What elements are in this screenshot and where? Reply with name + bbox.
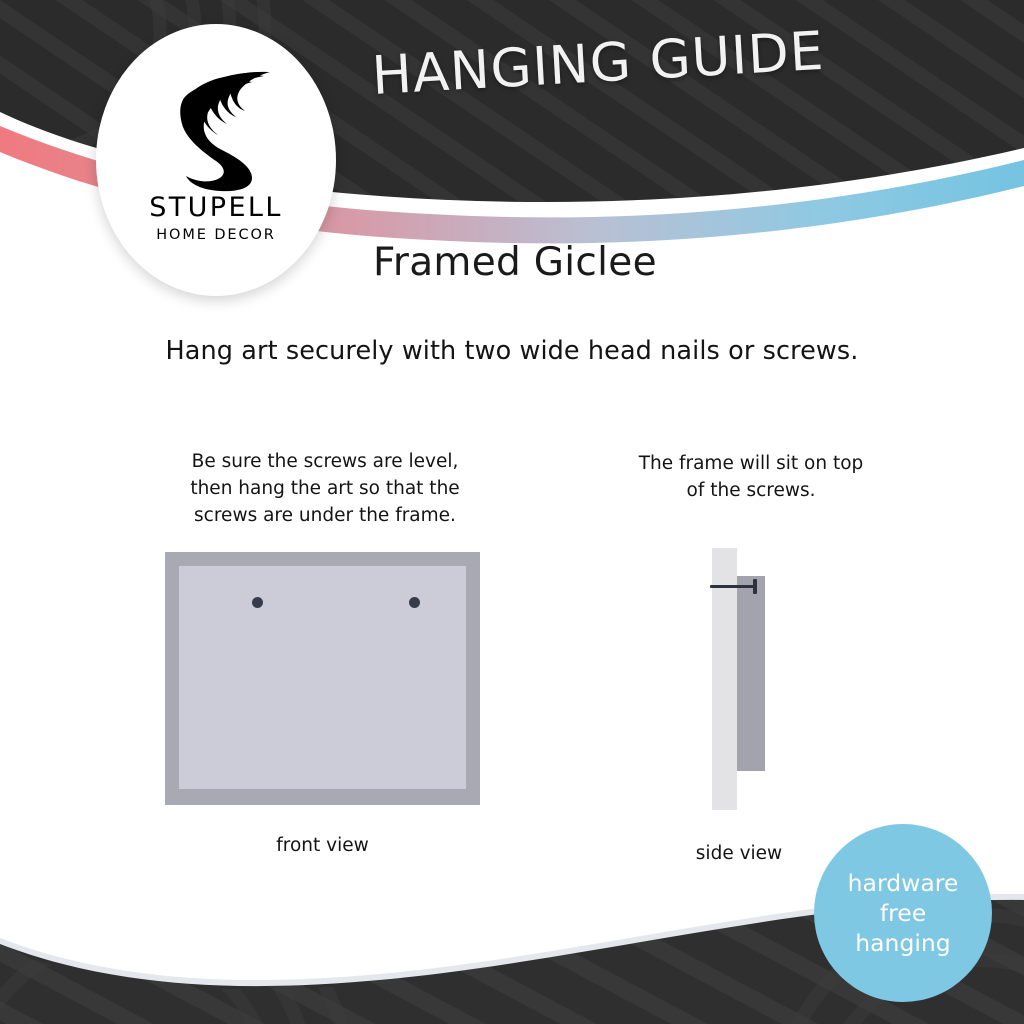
caption-line: then hang the art so that the: [150, 475, 500, 502]
side-view-diagram: [705, 546, 775, 810]
hanging-guide-page: HANGING GUIDE STUPELL HOME DECOR Framed …: [0, 0, 1024, 1024]
stupell-swoosh-icon: [156, 64, 276, 192]
hardware-free-hanging-badge: hardware free hanging: [814, 824, 992, 1002]
nail-shaft-icon: [710, 585, 756, 588]
caption-line: Be sure the screws are level,: [150, 448, 500, 475]
side-view-caption: The frame will sit on top of the screws.: [598, 450, 904, 504]
caption-line: The frame will sit on top: [598, 450, 904, 477]
badge-line: hanging: [855, 928, 950, 958]
screw-dot-icon: [252, 597, 263, 608]
frame-mat-panel: [179, 566, 466, 789]
badge-line: hardware: [848, 868, 959, 898]
brand-tagline: HOME DECOR: [156, 228, 276, 243]
page-title: HANGING GUIDE: [370, 17, 893, 107]
front-view-label: front view: [190, 835, 455, 856]
caption-line: of the screws.: [598, 477, 904, 504]
frame-profile: [737, 576, 765, 771]
brand-name: STUPELL: [149, 194, 283, 221]
badge-line: free: [880, 898, 926, 928]
side-view-label: side view: [647, 843, 831, 864]
front-view-caption: Be sure the screws are level, then hang …: [150, 448, 500, 529]
product-type-heading: Framed Giclee: [373, 240, 657, 285]
screw-dot-icon: [409, 597, 420, 608]
caption-line: screws are under the frame.: [150, 502, 500, 529]
brand-logo-badge: STUPELL HOME DECOR: [96, 24, 336, 296]
front-view-diagram: [165, 552, 480, 805]
nail-head-icon: [753, 579, 757, 594]
main-instruction-text: Hang art securely with two wide head nai…: [0, 336, 1024, 366]
